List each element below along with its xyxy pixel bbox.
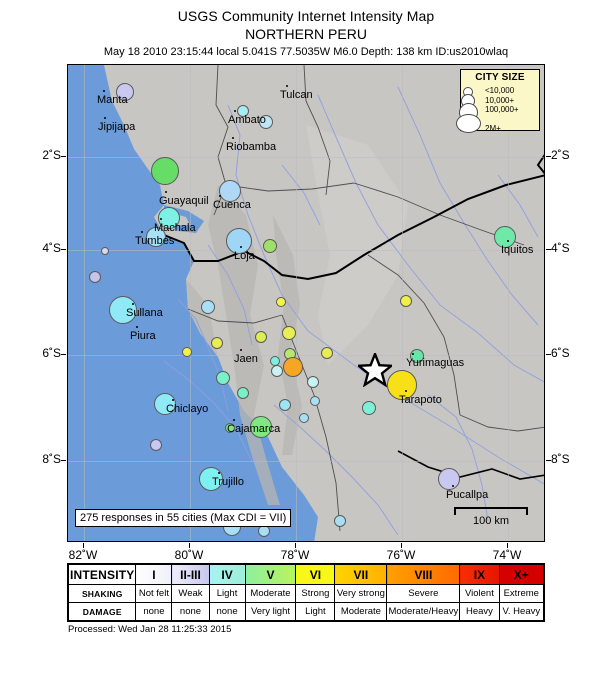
lon-tick-label-1: 80˚W (159, 548, 219, 562)
response-marker (279, 399, 291, 411)
lat-tick-label-0-left: 2˚S (17, 148, 61, 162)
scale-bar: 100 km (454, 507, 528, 527)
city-size-entry-1: 10,000+ (485, 96, 519, 106)
city-size-legend: CITY SIZE <10,000 10,000+ 100,000+ 2M+ (460, 69, 540, 131)
intensity-cell-intensity-VI: VI (296, 564, 335, 585)
city-dot (103, 90, 105, 92)
graticule-lat-8s (68, 461, 544, 462)
lat-tick-2-right (546, 354, 551, 355)
response-marker (211, 337, 223, 349)
lat-tick-1-right (546, 249, 551, 250)
city-dot (132, 303, 134, 305)
intensity-row-damage: DAMAGEnonenonenoneVery lightLightModerat… (68, 603, 544, 622)
intensity-row-shaking: SHAKINGNot feltWeakLightModerateStrongVe… (68, 585, 544, 603)
lat-tick-label-2-left: 6˚S (17, 346, 61, 360)
intensity-cell-damage-VII: Moderate (335, 603, 387, 622)
epicenter-star-icon (358, 353, 392, 387)
lon-tick-4 (507, 543, 508, 548)
city-size-entry-3: 2M+ (485, 124, 519, 134)
city-label-sullana: Sullana (126, 307, 163, 319)
intensity-row-header: INTENSITY (68, 564, 136, 585)
response-marker (299, 413, 309, 423)
scale-bar-label: 100 km (454, 515, 528, 527)
city-size-entry-0: <10,000 (485, 86, 519, 96)
response-marker (276, 297, 286, 307)
city-label-riobamba: Riobamba (226, 141, 276, 153)
city-size-entry-2: 100,000+ (485, 105, 519, 115)
intensity-cell-damage-IV: none (209, 603, 245, 622)
response-marker (438, 468, 460, 490)
responses-summary: 275 responses in 55 cities (Max CDI = VI… (75, 509, 291, 527)
response-marker (101, 247, 109, 255)
lon-tick-1 (189, 543, 190, 548)
lat-tick-3-right (546, 460, 551, 461)
intensity-row-intensity: INTENSITYIII-IIIIVVVIVIIVIIIIXX+ (68, 564, 544, 585)
intensity-row-header: SHAKING (68, 585, 136, 603)
lon-tick-2 (295, 543, 296, 548)
response-marker (216, 371, 230, 385)
intensity-cell-damage-VI: Light (296, 603, 335, 622)
city-label-tarapoto: Tarapoto (399, 394, 442, 406)
lat-tick-3-left (61, 460, 66, 461)
response-marker (150, 439, 162, 451)
city-dot (507, 240, 509, 242)
graticule-lat-2s (68, 157, 544, 158)
intensity-cell-damage-VIII: Moderate/Heavy (387, 603, 460, 622)
response-marker (283, 357, 303, 377)
city-dot (240, 349, 242, 351)
city-dot (141, 231, 143, 233)
intensity-cell-shaking-IV: Light (209, 585, 245, 603)
intensity-cell-intensity-X+: X+ (499, 564, 544, 585)
city-label-cajamarca: Cajamarca (227, 423, 280, 435)
graticule-lon-78w (296, 65, 297, 541)
processed-timestamp: Processed: Wed Jan 28 11:25:33 2015 (68, 624, 231, 635)
response-marker (255, 331, 267, 343)
intensity-cell-intensity-I: I (136, 564, 172, 585)
lon-tick-label-2: 78˚W (265, 548, 325, 562)
lon-tick-label-0: 82˚W (53, 548, 113, 562)
intensity-map-page: USGS Community Internet Intensity Map NO… (0, 0, 612, 684)
graticule-lon-74w (508, 65, 509, 541)
graticule-lat-6s (68, 355, 544, 356)
city-label-jaen: Jaen (234, 353, 258, 365)
city-dot (232, 137, 234, 139)
intensity-scale-table: INTENSITYIII-IIIIVVVIVIIVIIIIXX+SHAKINGN… (67, 563, 545, 622)
lat-tick-label-3-left: 8˚S (17, 452, 61, 466)
response-marker (237, 387, 249, 399)
city-label-ambato: Ambato (228, 114, 266, 126)
city-label-trujillo: Trujillo (212, 476, 244, 488)
intensity-cell-intensity-IV: IV (209, 564, 245, 585)
intensity-cell-intensity-V: V (245, 564, 296, 585)
response-marker (263, 239, 277, 253)
lat-tick-label-2-right: 6˚S (551, 346, 595, 360)
city-dot (218, 472, 220, 474)
intensity-cell-intensity-IX: IX (460, 564, 499, 585)
lon-tick-label-3: 76˚W (371, 548, 431, 562)
city-dot (233, 419, 235, 421)
intensity-cell-intensity-II-III: II-III (172, 564, 209, 585)
city-label-tulcan: Tulcan (280, 89, 313, 101)
response-marker (201, 300, 215, 314)
response-marker (334, 515, 346, 527)
intensity-cell-damage-IX: Heavy (460, 603, 499, 622)
city-dot (219, 195, 221, 197)
intensity-cell-shaking-IX: Violent (460, 585, 499, 603)
lat-tick-1-left (61, 249, 66, 250)
scale-bar-line (454, 507, 528, 515)
city-label-jipijapa: Jipijapa (98, 121, 135, 133)
response-marker (400, 295, 412, 307)
lon-tick-0 (83, 543, 84, 548)
intensity-row-header: DAMAGE (68, 603, 136, 622)
response-marker (282, 326, 296, 340)
intensity-cell-shaking-II-III: Weak (172, 585, 209, 603)
city-label-pucallpa: Pucallpa (446, 489, 488, 501)
city-dot (412, 353, 414, 355)
intensity-cell-shaking-V: Moderate (245, 585, 296, 603)
response-marker (89, 271, 101, 283)
response-marker (321, 347, 333, 359)
city-dot (234, 110, 236, 112)
city-label-machala: Machala (154, 222, 196, 234)
city-label-guayaquil: Guayaquil (159, 195, 209, 207)
city-size-legend-title: CITY SIZE (461, 72, 539, 83)
city-dot (172, 399, 174, 401)
basemap-graphic (68, 65, 545, 542)
intensity-cell-intensity-VII: VII (335, 564, 387, 585)
event-subtitle: May 18 2010 23:15:44 local 5.041S 77.503… (0, 46, 612, 58)
intensity-cell-damage-II-III: none (172, 603, 209, 622)
response-marker (307, 376, 319, 388)
lat-tick-label-1-left: 4˚S (17, 241, 61, 255)
response-marker (362, 401, 376, 415)
city-label-yurimaguas: Yurimaguas (406, 357, 464, 369)
response-marker (310, 396, 320, 406)
region-title: NORTHERN PERU (0, 26, 612, 42)
city-dot (160, 218, 162, 220)
graticule-lon-82w (84, 65, 85, 541)
graticule-lon-80w (190, 65, 191, 541)
intensity-cell-shaking-VIII: Severe (387, 585, 460, 603)
page-title: USGS Community Internet Intensity Map (0, 8, 612, 24)
city-dot (452, 485, 454, 487)
lat-tick-label-0-right: 2˚S (551, 148, 595, 162)
city-size-legend-entries: <10,000 10,000+ 100,000+ 2M+ (485, 86, 519, 133)
response-marker (182, 347, 192, 357)
intensity-cell-shaking-I: Not felt (136, 585, 172, 603)
lon-tick-3 (401, 543, 402, 548)
intensity-cell-shaking-VII: Very strong (335, 585, 387, 603)
city-label-manta: Manta (97, 94, 128, 106)
intensity-cell-intensity-VIII: VIII (387, 564, 460, 585)
lon-tick-label-4: 74˚W (477, 548, 537, 562)
city-dot (405, 390, 407, 392)
city-dot (240, 246, 242, 248)
city-label-cuenca: Cuenca (213, 199, 251, 211)
lat-tick-label-3-right: 8˚S (551, 452, 595, 466)
city-label-loja: Loja (234, 250, 255, 262)
response-marker (270, 356, 280, 366)
lat-tick-label-1-right: 4˚S (551, 241, 595, 255)
response-marker (151, 157, 179, 185)
city-size-blob-mega (456, 114, 481, 133)
city-dot (136, 326, 138, 328)
city-label-tumbes: Tumbes (135, 235, 174, 247)
lat-tick-0-left (61, 156, 66, 157)
intensity-cell-shaking-VI: Strong (296, 585, 335, 603)
city-label-chiclayo: Chiclayo (166, 403, 208, 415)
response-marker (271, 365, 283, 377)
lat-tick-2-left (61, 354, 66, 355)
intensity-cell-shaking-X+: Extreme (499, 585, 544, 603)
city-dot (104, 117, 106, 119)
city-label-iquitos: Iquitos (501, 244, 533, 256)
intensity-cell-damage-X+: V. Heavy (499, 603, 544, 622)
city-label-piura: Piura (130, 330, 156, 342)
graticule-lat-4s (68, 250, 544, 251)
intensity-cell-damage-I: none (136, 603, 172, 622)
lat-tick-0-right (546, 156, 551, 157)
city-dot (286, 85, 288, 87)
intensity-cell-damage-V: Very light (245, 603, 296, 622)
map-canvas[interactable]: MantaJipijapaTulcanAmbatoRiobambaGuayaqu… (67, 64, 545, 542)
city-dot (165, 191, 167, 193)
